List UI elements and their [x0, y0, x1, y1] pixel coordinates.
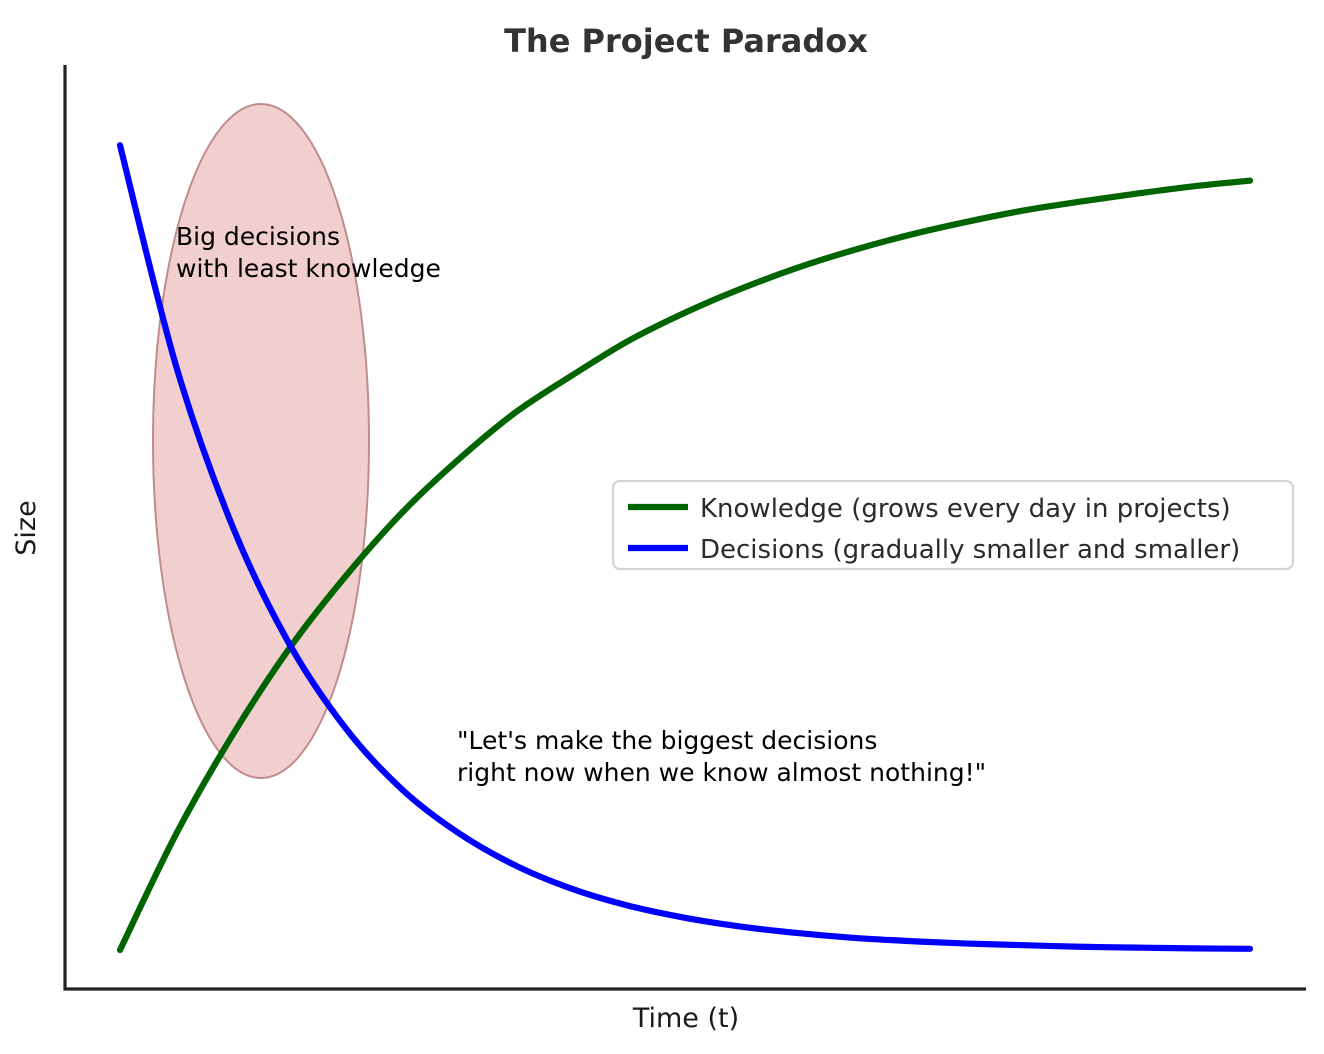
- legend-label-decisions: Decisions (gradually smaller and smaller…: [700, 535, 1240, 565]
- legend-item-decisions[interactable]: Decisions (gradually smaller and smaller…: [628, 535, 1240, 565]
- chart-title: The Project Paradox: [504, 22, 868, 60]
- early-phase-highlight-ellipse: [153, 104, 369, 778]
- x-axis-label: Time (t): [632, 1003, 739, 1034]
- chart-legend: Knowledge (grows every day in projects) …: [613, 481, 1293, 569]
- annotation-big-decisions-line-1: Big decisions: [176, 222, 340, 251]
- legend-label-knowledge: Knowledge (grows every day in projects): [700, 494, 1231, 524]
- y-axis-label: Size: [11, 500, 42, 555]
- legend-item-knowledge[interactable]: Knowledge (grows every day in projects): [628, 494, 1231, 524]
- annotation-big-decisions-line-2: with least knowledge: [176, 254, 441, 283]
- project-paradox-chart: The Project Paradox Time (t) Size Big de…: [0, 0, 1324, 1054]
- annotation-quote-line-1: "Let's make the biggest decisions: [457, 726, 877, 755]
- chart-figure: The Project Paradox Time (t) Size Big de…: [0, 0, 1324, 1054]
- annotation-quote-line-2: right now when we know almost nothing!": [457, 758, 986, 787]
